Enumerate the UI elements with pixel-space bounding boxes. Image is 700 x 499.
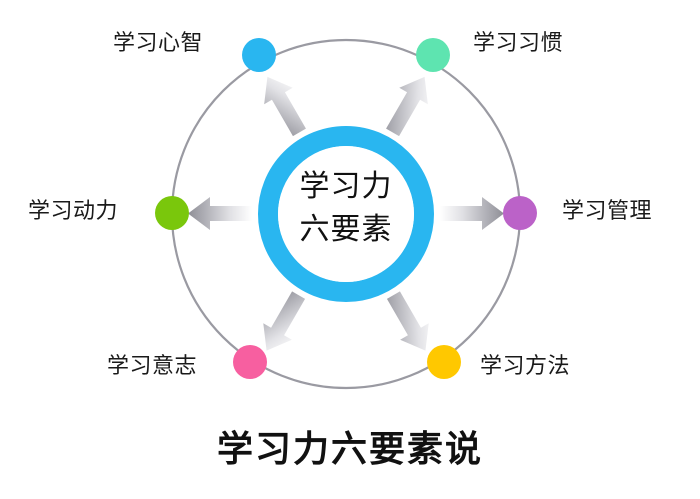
node-dot-mind[interactable] [242, 38, 276, 72]
diagram-canvas: 学习心智 学习习惯 学习动力 学习管理 学习意志 学习方法 学习力 六要素 学习… [0, 0, 700, 499]
arrow-to-habit [252, 287, 313, 359]
arrow-to-management [440, 197, 504, 230]
center-text-line1: 学习力 [258, 166, 434, 209]
node-dot-method[interactable] [427, 345, 461, 379]
center-hub-text: 学习力 六要素 [258, 166, 434, 251]
diagram-caption: 学习力六要素说 [0, 428, 700, 471]
node-label-management: 学习管理 [562, 201, 652, 223]
arrow-to-mind [378, 69, 439, 141]
node-dot-will[interactable] [233, 345, 267, 379]
node-dot-motivation[interactable] [155, 196, 189, 230]
node-label-motivation: 学习动力 [28, 201, 118, 223]
node-label-will: 学习意志 [107, 356, 197, 378]
node-dot-habit[interactable] [416, 38, 450, 72]
arrow-to-will [379, 287, 440, 359]
node-label-method: 学习方法 [480, 356, 570, 378]
arrow-to-method [253, 69, 314, 141]
center-text-line2: 六要素 [258, 209, 434, 252]
arrow-to-motivation [188, 197, 252, 230]
node-label-habit: 学习习惯 [473, 33, 563, 55]
node-label-mind: 学习心智 [113, 33, 203, 55]
node-dot-management[interactable] [503, 196, 537, 230]
